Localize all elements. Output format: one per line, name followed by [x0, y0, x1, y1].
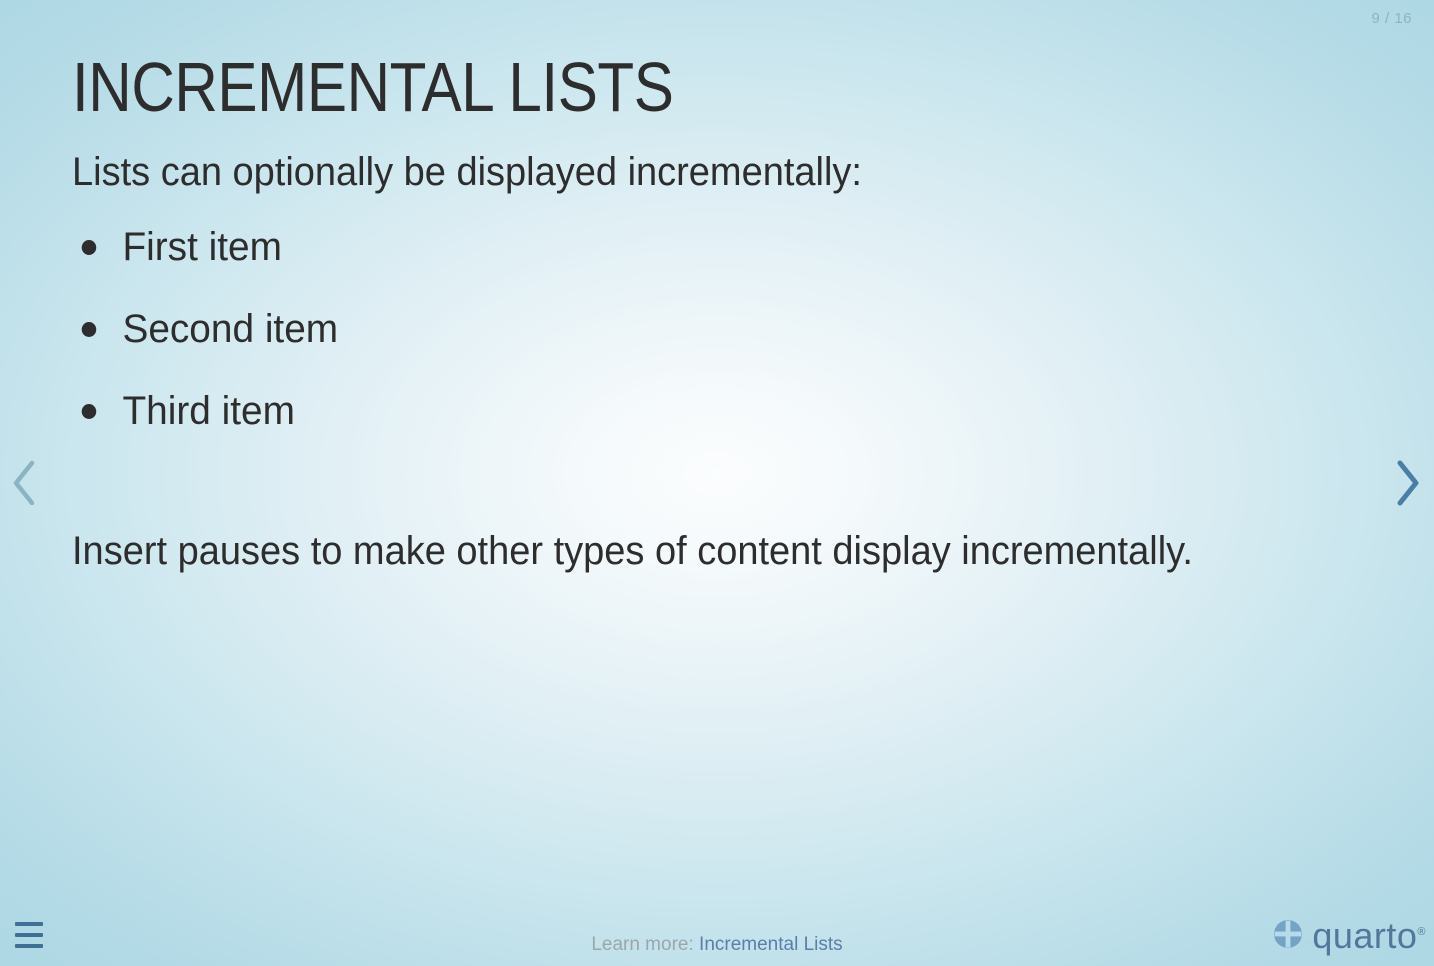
slide-footer: Learn more: Incremental Lists	[0, 934, 1434, 956]
intro-paragraph: Lists can optionally be displayed increm…	[72, 147, 1298, 198]
slide-content: INCREMENTAL LISTS Lists can optionally b…	[72, 52, 1362, 583]
list-item: First item	[72, 227, 1323, 267]
list-item-label: Third item	[122, 389, 294, 433]
presentation-slide: 9 / 16 INCREMENTAL LISTS Lists can optio…	[0, 0, 1434, 966]
bullet-dot-icon	[82, 404, 97, 419]
list-item-label: First item	[122, 225, 282, 269]
page-title: INCREMENTAL LISTS	[72, 52, 1181, 123]
list-item-label: Second item	[122, 307, 338, 351]
footer-learn-more-link[interactable]: Incremental Lists	[699, 934, 843, 955]
registered-trademark-mark: ®	[1417, 926, 1426, 938]
bullet-dot-icon	[82, 240, 97, 255]
quarto-branding: quarto®	[1273, 918, 1426, 954]
previous-slide-button[interactable]	[4, 457, 44, 509]
list-item: Second item	[72, 309, 1323, 349]
quarto-wordmark-text: quarto	[1312, 915, 1417, 956]
closing-paragraph: Insert pauses to make other types of con…	[72, 519, 1226, 584]
incremental-bullet-list: First item Second item Third item	[72, 227, 1362, 431]
list-item: Third item	[72, 391, 1323, 431]
slide-number-indicator: 9 / 16	[1371, 10, 1412, 27]
quarto-wordmark: quarto®	[1312, 918, 1426, 954]
next-slide-button[interactable]	[1388, 457, 1428, 509]
bullet-dot-icon	[82, 322, 97, 337]
footer-prefix-label: Learn more:	[591, 934, 699, 955]
chevron-right-icon	[1395, 460, 1421, 506]
quarto-logo-icon	[1273, 919, 1303, 954]
hamburger-menu-icon	[15, 922, 43, 926]
chevron-left-icon	[11, 460, 37, 506]
